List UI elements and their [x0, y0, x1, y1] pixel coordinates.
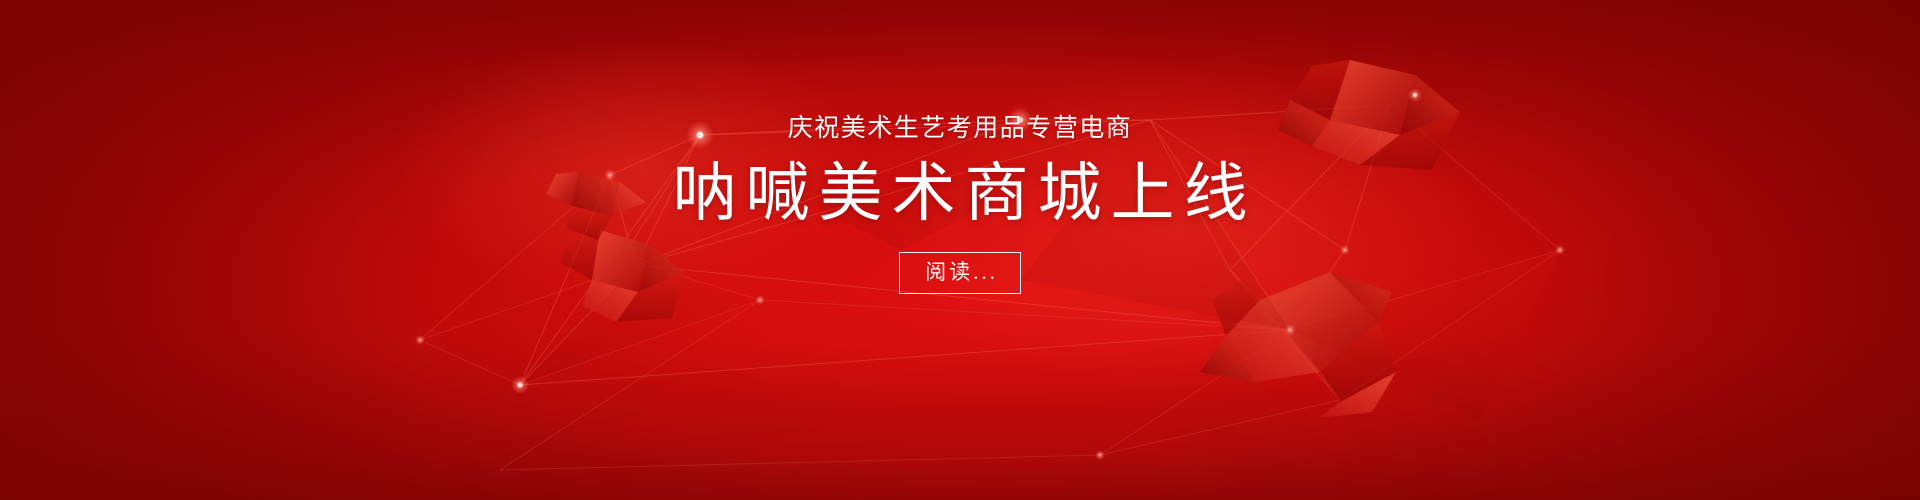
- banner-subtitle: 庆祝美术生艺考用品专营电商: [788, 116, 1133, 141]
- banner-content: 庆祝美术生艺考用品专营电商 呐喊美术商城上线 阅读...: [0, 0, 1920, 500]
- read-more-button[interactable]: 阅读...: [899, 252, 1021, 294]
- banner-cta-wrapper: 阅读...: [899, 252, 1021, 294]
- banner-headline: 呐喊美术商城上线: [664, 162, 1257, 226]
- promo-banner: 庆祝美术生艺考用品专营电商 呐喊美术商城上线 阅读...: [0, 0, 1920, 500]
